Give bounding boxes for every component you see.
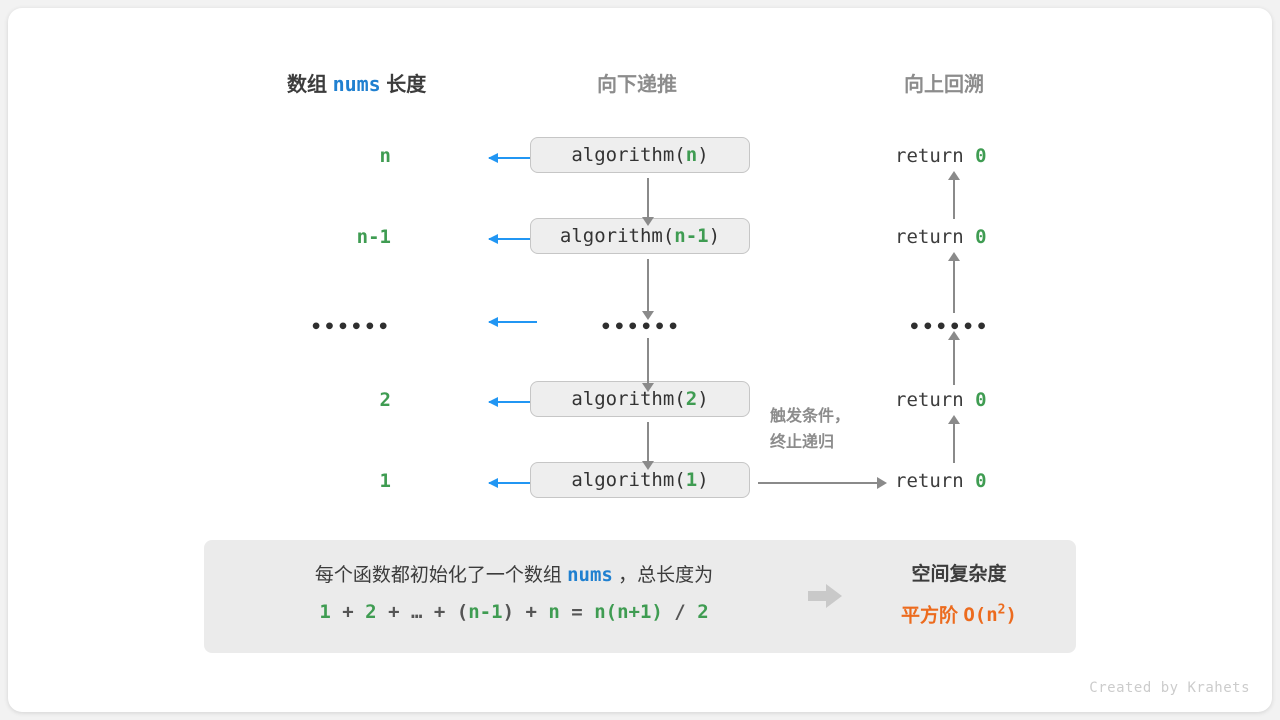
call-box-5: algorithm(1) (530, 462, 750, 498)
space-complexity-title: 空间复杂度 (864, 557, 1054, 593)
down-arrow-3 (647, 338, 649, 384)
summary-line-1: 每个函数都初始化了一个数组 nums ，总长度为 (234, 557, 794, 594)
summary-line-2: 1 + 2 + … + (n-1) + n = n(n+1) / 2 (234, 594, 794, 630)
call-suffix-4: ) (697, 388, 708, 410)
column-header-recurse-down: 向下递推 (597, 68, 677, 97)
return-label-5: return 0 (895, 470, 987, 492)
call-arg-4: 2 (686, 388, 697, 410)
return-label-1: return 0 (895, 145, 987, 167)
trigger-note-line2: 终止递归 (770, 430, 880, 456)
size-label-2: n-1 (357, 226, 391, 248)
column-header-array-length: 数组 nums 长度 (287, 68, 426, 97)
return-text-5: return (895, 470, 964, 492)
return-value-4: 0 (975, 389, 986, 411)
down-arrow-2 (647, 259, 649, 312)
summary-right: 空间复杂度 平方阶 O(n2) (864, 557, 1054, 634)
header-left-prefix: 数组 (287, 74, 327, 96)
return-value-5: 0 (975, 470, 986, 492)
trigger-note-line1: 触发条件， (770, 404, 880, 430)
return-value-2: 0 (975, 226, 986, 248)
return-value-1: 0 (975, 145, 986, 167)
down-arrow-4 (647, 422, 649, 462)
call-box-1: algorithm(n) (530, 137, 750, 173)
call-prefix-1: algorithm( (571, 144, 685, 166)
summary-line1-code: nums (567, 564, 613, 586)
size-label-1: n (380, 145, 391, 167)
summary-panel: 每个函数都初始化了一个数组 nums ，总长度为 1 + 2 + … + (n-… (204, 540, 1076, 653)
up-arrow-4 (953, 423, 955, 463)
trigger-condition-note: 触发条件， 终止递归 (770, 404, 880, 456)
summary-line1-b: ，总长度为 (618, 565, 713, 586)
call-suffix-1: ) (697, 144, 708, 166)
return-text-1: return (895, 145, 964, 167)
up-arrow-3 (953, 339, 955, 385)
return-text-4: return (895, 389, 964, 411)
up-arrow-1 (953, 179, 955, 219)
size-label-3: •••••• (310, 316, 391, 338)
size-label-5: 1 (380, 470, 391, 492)
complexity-label: 平方阶 (901, 605, 958, 626)
return-label-2: return 0 (895, 226, 987, 248)
up-arrow-2 (953, 260, 955, 313)
header-left-suffix: 长度 (386, 74, 426, 96)
footer-credit: Created by Krahets (1089, 680, 1250, 696)
complexity-expr: O(n (963, 604, 997, 626)
call-arg-1: n (686, 144, 697, 166)
column-header-backtrack-up: 向上回溯 (904, 68, 984, 97)
header-left-code: nums (333, 72, 381, 96)
call-prefix-4: algorithm( (571, 388, 685, 410)
size-label-4: 2 (380, 389, 391, 411)
call-box-2: algorithm(n-1) (530, 218, 750, 254)
call-suffix-2: ) (709, 225, 720, 247)
call-box-ellipsis: •••••• (530, 316, 751, 338)
down-arrow-1 (647, 178, 649, 218)
summary-line1-a: 每个函数都初始化了一个数组 (315, 565, 562, 586)
base-case-arrow (758, 482, 878, 484)
call-arg-5: 1 (686, 469, 697, 491)
space-complexity-value: 平方阶 O(n2) (864, 593, 1054, 634)
implies-arrow-icon (808, 582, 842, 610)
call-prefix-2: algorithm( (560, 225, 674, 247)
call-suffix-5: ) (697, 469, 708, 491)
complexity-close: ) (1006, 604, 1017, 626)
complexity-exponent: 2 (998, 603, 1006, 618)
summary-left: 每个函数都初始化了一个数组 nums ，总长度为 1 + 2 + … + (n-… (234, 557, 794, 630)
diagram-card: 数组 nums 长度 向下递推 向上回溯 n algorithm(n) retu… (8, 8, 1272, 712)
return-text-2: return (895, 226, 964, 248)
call-prefix-5: algorithm( (571, 469, 685, 491)
call-box-4: algorithm(2) (530, 381, 750, 417)
call-arg-2: n-1 (674, 225, 708, 247)
return-label-4: return 0 (895, 389, 987, 411)
